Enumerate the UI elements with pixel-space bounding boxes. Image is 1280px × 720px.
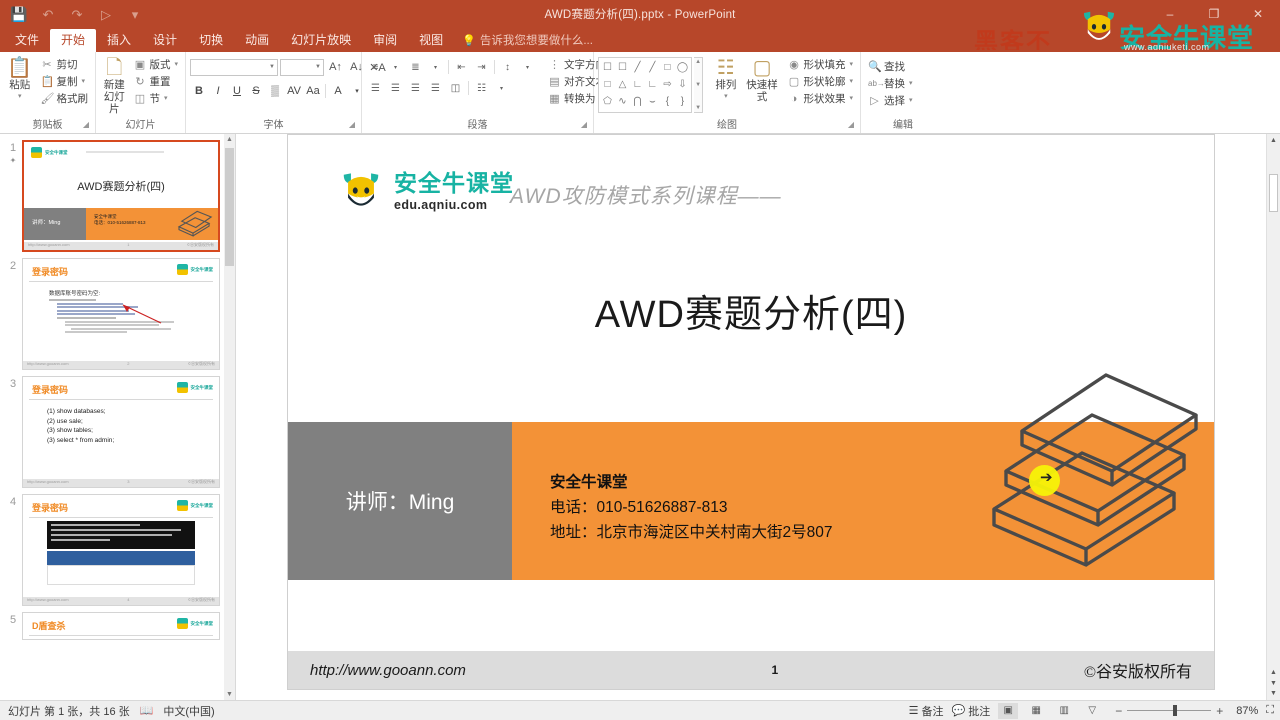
section-icon: ◫ <box>133 92 146 106</box>
bull-logo-icon <box>177 382 188 393</box>
slides-group-label: 幻灯片 <box>100 119 181 133</box>
mini-footer-right: ©谷安版权所有 <box>188 597 215 603</box>
spell-check-icon[interactable]: 📖 <box>140 704 154 717</box>
slide-footer[interactable]: http://www.gooann.com 1 ©谷安版权所有 <box>288 651 1214 689</box>
mini-footer-4: http://www.gooann.com 4 ©谷安版权所有 <box>27 597 215 603</box>
dialog-launcher-icon[interactable]: ◢ <box>848 118 854 132</box>
layout-label: 版式 <box>149 58 170 72</box>
chevron-down-icon[interactable]: ▾ <box>850 58 854 72</box>
drawing-label-text: 绘图 <box>717 120 737 131</box>
thumbnail-number-5: 5 <box>4 612 22 626</box>
zoom-knob[interactable] <box>1173 705 1177 716</box>
tab-file[interactable]: 文件 <box>4 29 50 52</box>
current-slide[interactable]: 安全牛课堂 edu.aqniu.com AWD攻防模式系列课程—— AWD赛题分… <box>287 134 1215 690</box>
select-label: 选择 <box>884 94 905 108</box>
shape-effects-label: 形状效果 <box>804 92 846 106</box>
thumbnail-slide-3[interactable]: 登录密码 安全牛课堂 (1) show databases; (2) use s… <box>22 376 220 488</box>
zoom-in-button[interactable]: + <box>1211 704 1228 718</box>
window-title: AWD赛题分析(四).pptx - PowerPoint <box>0 6 1280 22</box>
dialog-launcher-icon[interactable]: ◢ <box>581 118 587 132</box>
chevron-down-icon[interactable]: ▼ <box>269 64 275 70</box>
mini-contact-phone: 电话：010-51626887-813 <box>94 220 146 226</box>
slide-pane-scrollbar[interactable]: ▲ ▲ ▼ ▼ <box>1266 134 1280 700</box>
cut-button[interactable]: ✂ 剪切 <box>38 57 92 73</box>
thumbnail-slide-1[interactable]: 安全牛课堂 AWD赛题分析(四) 讲师：Ming 安全牛课堂 电话：010-51… <box>22 140 220 252</box>
shapes-scrollbar[interactable]: ▲ ▼ ▼ <box>694 57 703 113</box>
new-slide-label-2: 幻灯片 <box>100 91 128 115</box>
mini-browser-body <box>47 565 195 585</box>
font-group-label: 字体 ◢ <box>190 119 357 133</box>
restore-button[interactable]: ❐ <box>1192 0 1236 28</box>
slide-subtitle[interactable]: AWD攻防模式系列课程—— <box>510 180 782 210</box>
reset-icon: ↻ <box>133 75 146 89</box>
instructor-label: 讲师：Ming <box>346 486 455 516</box>
sql-line-1: (1) show databases; <box>47 407 114 417</box>
thumbnail-slide-4[interactable]: 登录密码 安全牛课堂 http://www.gooann.com 4 <box>22 494 220 606</box>
elbow-icon[interactable]: ∟ <box>630 76 645 93</box>
editing-group-label: 编辑 <box>865 119 941 133</box>
footer-page-number: 1 <box>772 663 779 677</box>
scissors-icon: ✂ <box>41 58 54 72</box>
textbox-alt-icon[interactable]: ☐ <box>615 59 630 76</box>
mini-browser-header <box>47 551 195 565</box>
slides-label-text: 幻灯片 <box>126 120 156 131</box>
zoom-slider[interactable]: − + <box>1110 704 1228 718</box>
mini-footer-left: http://www.gooann.com <box>27 361 69 367</box>
tab-slideshow[interactable]: 幻灯片放映 <box>280 29 362 52</box>
mini-sql-list: (1) show databases; (2) use sale; (3) sh… <box>47 407 114 445</box>
ribbon-group-paragraph: ≡ ▾ ≣ ▾ ⇤ ⇥ ↕ ▾ ☰ ☰ ☰ ☰ ◫ <box>362 52 594 133</box>
line-spacing-icon[interactable]: ↕ <box>498 58 517 76</box>
drawing-group-label: 绘图 ◢ <box>598 119 856 133</box>
mini-logo-text: 安全牛课堂 <box>191 267 214 272</box>
animation-star-icon: ✦ <box>4 156 22 165</box>
slide-count-label: 幻灯片 第 1 张，共 16 张 <box>8 703 130 719</box>
ribbon-group-slides: 🗋 新建 幻灯片 ▣ 版式 ▾ ↻ 重置 ◫ 节 ▾ <box>96 52 186 133</box>
mini-logo: 安全牛课堂 <box>177 500 214 511</box>
smartart-icon: ▦ <box>548 92 561 106</box>
new-slide-icon: 🗋 <box>106 57 122 79</box>
mini-title-2: 登录密码 <box>32 265 68 278</box>
sql-line-3: (3) show tables; <box>47 426 114 436</box>
close-button[interactable]: ✕ <box>1236 0 1280 28</box>
mini-terminal <box>47 521 195 549</box>
slide-editing-pane[interactable]: 安全牛课堂 edu.aqniu.com AWD攻防模式系列课程—— AWD赛题分… <box>236 134 1266 700</box>
format-painter-label: 格式刷 <box>57 92 89 106</box>
tab-review[interactable]: 审阅 <box>362 29 408 52</box>
mini-divider <box>29 399 213 400</box>
thumbnail-row-3[interactable]: 3 登录密码 安全牛课堂 (1) show databases; (2) use… <box>0 370 235 488</box>
bull-logo-icon <box>31 147 42 158</box>
chevron-down-icon[interactable]: ▾ <box>386 58 405 76</box>
rectangle-icon[interactable]: □ <box>660 59 675 76</box>
scrollbar-thumb[interactable] <box>225 148 234 266</box>
notes-button[interactable]: ☰ 备注 <box>909 703 944 719</box>
format-painter-icon: 🖌 <box>41 92 54 106</box>
books-illustration-icon[interactable] <box>978 367 1208 579</box>
shape-outline-button[interactable]: ▢ 形状轮廓 ▾ <box>785 74 857 90</box>
columns-icon[interactable]: ◫ <box>446 79 465 97</box>
fit-to-window-button[interactable]: ⛶ <box>1266 704 1274 717</box>
tab-transitions[interactable]: 切换 <box>188 29 234 52</box>
numbering-icon[interactable]: ≣ <box>406 58 425 76</box>
notes-label: 备注 <box>922 703 944 719</box>
work-area: 1 ✦ 安全牛课堂 AWD赛题分析(四) 讲师：Ming 安全牛课堂 电话：01… <box>0 134 1280 700</box>
title-bar: 💾 ↶ ↷ ▷ ▾ AWD赛题分析(四).pptx - PowerPoint –… <box>0 0 1280 28</box>
tab-animations[interactable]: 动画 <box>234 29 280 52</box>
italic-button[interactable]: I <box>209 82 227 100</box>
thumbnail-row-2[interactable]: 2 登录密码 安全牛课堂 数据库账号密码为空: <box>0 252 235 370</box>
slide-sorter-button[interactable]: ▦ <box>1026 703 1046 719</box>
ribbon-group-drawing: ☐ ☐ ╱ ╱ □ ◯ □ △ ∟ ∟ ⇨ ⇩ ⬠ ∿ ⋂ ⌣ { } ▲ <box>594 52 861 133</box>
rect2-icon[interactable]: □ <box>600 76 615 93</box>
align-left-icon[interactable]: ☰ <box>366 79 385 97</box>
shapes-more-icon[interactable]: ▼ <box>695 105 701 111</box>
chevron-down-icon[interactable]: ▾ <box>426 58 445 76</box>
oval-icon[interactable]: ◯ <box>675 59 690 76</box>
select-button[interactable]: ▷ 选择 ▾ <box>865 93 916 109</box>
divider <box>494 60 495 74</box>
mini-footer-center: 4 <box>127 597 129 603</box>
copy-button[interactable]: 📋 复制 ▾ <box>38 74 92 90</box>
tab-insert[interactable]: 插入 <box>96 29 142 52</box>
scroll-up-icon[interactable]: ▲ <box>1267 137 1280 144</box>
layout-button[interactable]: ▣ 版式 ▾ <box>130 57 181 73</box>
comments-label: 批注 <box>968 703 990 719</box>
triangle-icon[interactable]: △ <box>615 76 630 93</box>
shape-outline-icon: ▢ <box>788 75 801 89</box>
thumbnail-slide-5[interactable]: D盾查杀 安全牛课堂 <box>22 612 220 640</box>
cut-label: 剪切 <box>57 58 78 72</box>
language-label[interactable]: 中文(中国) <box>163 703 214 719</box>
logo-text: 安全牛课堂 edu.aqniu.com <box>394 172 514 212</box>
bull-logo-icon <box>338 169 384 215</box>
minimize-button[interactable]: – <box>1148 0 1192 28</box>
cursor-icon: ➔ <box>1040 470 1053 485</box>
reading-view-button[interactable]: ▥ <box>1054 703 1074 719</box>
curve-icon[interactable]: ⋂ <box>630 93 645 110</box>
replace-label: 替换 <box>884 77 905 91</box>
thumbnail-row-4[interactable]: 4 登录密码 安全牛课堂 http://www.gooan <box>0 488 235 606</box>
search-icon: 🔍 <box>868 60 881 74</box>
textbox-icon[interactable]: ☐ <box>600 59 615 76</box>
mini-logo: 安全牛课堂 <box>177 382 214 393</box>
dialog-launcher-icon[interactable]: ◢ <box>83 118 89 132</box>
align-center-icon[interactable]: ☰ <box>386 79 405 97</box>
bull-logo-icon <box>177 618 188 629</box>
bull-logo-icon <box>177 500 188 511</box>
mini-footer-right: ©谷安版权所有 <box>187 242 214 248</box>
copy-label: 复制 <box>57 75 78 89</box>
thumbnail-number-3: 3 <box>4 376 22 390</box>
mini-subtitle-bar <box>86 151 164 153</box>
mini-footer-right: ©谷安版权所有 <box>188 361 215 367</box>
notes-icon: ☰ <box>909 704 919 717</box>
status-bar: 幻灯片 第 1 张，共 16 张 📖 中文(中国) ☰ 备注 💬 批注 ▣ ▦ … <box>0 700 1280 720</box>
quick-styles-button[interactable]: ▢ 快速样式 <box>745 55 780 103</box>
tell-me-box[interactable]: 💡 告诉我您想要做什么... <box>454 32 593 52</box>
ribbon-group-editing: 🔍 查找 ab→ 替换 ▾ ▷ 选择 ▾ 编辑 <box>861 52 945 133</box>
ribbon: 📋 粘贴 ▾ ✂ 剪切 📋 复制 ▾ 🖌 格式刷 <box>0 52 1280 134</box>
normal-view-button[interactable]: ▣ <box>998 703 1018 719</box>
mini-logo-text: 安全牛课堂 <box>191 503 214 508</box>
line-arrow-icon[interactable]: ╱ <box>645 59 660 76</box>
zoom-level-label[interactable]: 87% <box>1236 705 1258 717</box>
contact-address: 地址：北京市海淀区中关村南大街2号807 <box>550 520 832 545</box>
copy-icon: 📋 <box>41 75 54 89</box>
zoom-out-button[interactable]: − <box>1110 704 1127 718</box>
clipboard-icon: 📋 <box>7 57 32 79</box>
ribbon-group-clipboard: 📋 粘贴 ▾ ✂ 剪切 📋 复制 ▾ 🖌 格式刷 <box>0 52 96 133</box>
mini-footer-center: 3 <box>127 479 129 485</box>
shapes-gallery[interactable]: ☐ ☐ ╱ ╱ □ ◯ □ △ ∟ ∟ ⇨ ⇩ ⬠ ∿ ⋂ ⌣ { } <box>598 57 692 113</box>
contact-info: 安全牛课堂 电话：010-51626887-813 地址：北京市海淀区中关村南大… <box>550 470 832 545</box>
mini-footer-2: http://www.gooann.com 2 ©谷安版权所有 <box>27 361 215 367</box>
section-label: 节 <box>149 92 160 106</box>
decrease-indent-icon[interactable]: ⇤ <box>452 58 471 76</box>
section-button[interactable]: ◫ 节 ▾ <box>130 91 181 107</box>
arc-icon[interactable]: ⌣ <box>645 93 660 110</box>
divider <box>468 81 469 95</box>
scroll-up-icon[interactable]: ▲ <box>224 136 235 143</box>
chevron-down-icon[interactable]: ▾ <box>174 58 178 72</box>
elbow2-icon[interactable]: ∟ <box>645 76 660 93</box>
brace-left-icon[interactable]: { <box>660 93 675 110</box>
sql-line-4: (3) select * from admin; <box>47 436 114 446</box>
next-slide-icon[interactable]: ▼ <box>1267 680 1280 687</box>
logo-cn-text: 安全牛课堂 <box>394 172 514 195</box>
chevron-down-icon[interactable]: ▾ <box>18 91 22 103</box>
mini-logo-text: 安全牛课堂 <box>191 385 214 390</box>
arrange-label: 排列 <box>715 79 736 91</box>
divider <box>448 60 449 74</box>
mini-title-1: AWD赛题分析(四) <box>24 178 218 194</box>
editing-label-text: 编辑 <box>893 120 913 131</box>
justify-icon[interactable]: ☰ <box>426 79 445 97</box>
mini-logo: 安全牛课堂 <box>177 264 214 275</box>
mini-footer-left: http://www.gooann.com <box>27 597 69 603</box>
mini-footer-left: http://www.gooann.com <box>27 479 69 485</box>
replace-icon: ab→ <box>868 77 881 91</box>
mini-divider <box>29 281 213 282</box>
replace-button[interactable]: ab→ 替换 ▾ <box>865 76 916 92</box>
mini-footer-1: http://www.gooann.com 1 ©谷安版权所有 <box>28 242 214 248</box>
text-columns-icon[interactable]: ☷ <box>472 79 491 97</box>
mini-title-4: 登录密码 <box>32 501 68 514</box>
chevron-down-icon[interactable]: ▾ <box>724 91 728 103</box>
mini-title-3: 登录密码 <box>32 383 68 396</box>
ribbon-group-font: ▼ ▼ A↑ A↓ ✕A B I U S ▒ AV Aa A ▾ <box>186 52 362 133</box>
bullets-icon[interactable]: ≡ <box>366 58 385 76</box>
arrow-right-icon[interactable]: ⇨ <box>660 76 675 93</box>
slide-title[interactable]: AWD赛题分析(四) <box>288 283 1214 338</box>
freeform-icon[interactable]: ∿ <box>615 93 630 110</box>
brace-right-icon[interactable]: } <box>675 93 690 110</box>
previous-slide-icon[interactable]: ▲ <box>1267 669 1280 676</box>
increase-font-size-button[interactable]: A↑ <box>326 58 345 76</box>
thumb-num-text: 1 <box>10 142 16 154</box>
thumbnail-row-5[interactable]: 5 D盾查杀 安全牛课堂 <box>0 606 235 640</box>
font-name-input[interactable]: ▼ <box>190 59 278 76</box>
lightbulb-icon: 💡 <box>462 34 476 47</box>
logo-en-text: edu.aqniu.com <box>394 199 514 212</box>
scroll-up-icon[interactable]: ▲ <box>695 59 701 65</box>
slide-logo: 安全牛课堂 edu.aqniu.com <box>338 169 514 215</box>
font-label-text: 字体 <box>264 120 284 131</box>
mini-divider <box>29 517 213 518</box>
bold-button[interactable]: B <box>190 82 208 100</box>
mini-divider <box>29 635 213 636</box>
mini-footer-left: http://www.gooann.com <box>28 242 70 248</box>
sql-line-2: (2) use sale; <box>47 417 114 427</box>
bull-logo-icon <box>177 264 188 275</box>
change-case-icon[interactable]: Aa <box>304 82 322 100</box>
thumbnail-row-1[interactable]: 1 ✦ 安全牛课堂 AWD赛题分析(四) 讲师：Ming 安全牛课堂 电话：01… <box>0 134 235 252</box>
shape-fill-icon: ◉ <box>788 58 801 72</box>
paste-button[interactable]: 📋 粘贴 ▾ <box>4 55 36 103</box>
clipboard-label-text: 剪贴板 <box>33 120 63 131</box>
text-direction-icon: ⋮ <box>548 58 561 72</box>
shape-fill-button[interactable]: ◉ 形状填充 ▾ <box>785 57 857 73</box>
mini-footer-center: 1 <box>127 242 129 248</box>
mini-footer-right: ©谷安版权所有 <box>188 479 215 485</box>
mini-logo-text: 安全牛课堂 <box>45 150 68 155</box>
shape-effects-icon: ◑ <box>788 92 801 106</box>
paragraph-group-label: 段落 ◢ <box>366 119 589 133</box>
dialog-launcher-icon[interactable]: ◢ <box>349 118 355 132</box>
paste-label: 粘贴 <box>9 79 30 91</box>
chevron-down-icon[interactable]: ▾ <box>492 79 511 97</box>
clipboard-group-label: 剪贴板 ◢ <box>4 119 91 133</box>
character-spacing-icon[interactable]: AV <box>285 82 303 100</box>
thumbnail-number-1: 1 ✦ <box>4 140 22 165</box>
mini-footer-center: 2 <box>127 361 129 367</box>
chevron-down-icon[interactable]: ▾ <box>164 92 168 106</box>
align-right-icon[interactable]: ☰ <box>406 79 425 97</box>
shape-outline-label: 形状轮廓 <box>804 75 846 89</box>
thumbnails-scrollbar[interactable]: ▲ ▼ <box>224 134 235 700</box>
tab-home[interactable]: 开始 <box>50 29 96 52</box>
quick-styles-label: 快速样式 <box>745 79 780 103</box>
new-slide-label-1: 新建 <box>104 79 125 91</box>
select-icon: ▷ <box>868 94 881 108</box>
arrange-icon: ☷ <box>717 57 735 79</box>
tell-me-label: 告诉我您想要做什么... <box>480 32 593 48</box>
footer-copyright: ©谷安版权所有 <box>1084 658 1192 682</box>
zoom-track[interactable] <box>1127 710 1211 711</box>
thumbnail-number-4: 4 <box>4 494 22 508</box>
chevron-down-icon[interactable]: ▼ <box>315 64 321 70</box>
line-icon[interactable]: ╱ <box>630 59 645 76</box>
new-slide-button[interactable]: 🗋 新建 幻灯片 <box>100 55 128 115</box>
contact-phone: 电话：010-51626887-813 <box>550 495 832 520</box>
paragraph-label-text: 段落 <box>468 120 488 131</box>
comments-button[interactable]: 💬 批注 <box>952 703 991 719</box>
red-arrow-icon <box>119 303 163 325</box>
mini-logo-text: 安全牛课堂 <box>191 621 214 626</box>
scroll-down-icon[interactable]: ▼ <box>1267 690 1280 697</box>
mini-body-2: 数据库账号密码为空: <box>49 289 100 297</box>
font-size-input[interactable]: ▼ <box>280 59 324 76</box>
status-left: 幻灯片 第 1 张，共 16 张 📖 中文(中国) <box>0 703 215 719</box>
mini-instructor: 讲师：Ming <box>32 218 60 226</box>
tab-view[interactable]: 视图 <box>408 29 454 52</box>
shape-effects-button[interactable]: ◑ 形状效果 ▾ <box>785 91 857 107</box>
underline-button[interactable]: U <box>228 82 246 100</box>
arrange-button[interactable]: ☷ 排列 ▾ <box>709 55 742 103</box>
instructor-block[interactable]: 讲师：Ming <box>288 422 512 580</box>
ribbon-tabs[interactable]: 文件 开始 插入 设计 切换 动画 幻灯片放映 审阅 视图 💡 告诉我您想要做什… <box>0 28 1280 52</box>
slide-thumbnails-pane[interactable]: 1 ✦ 安全牛课堂 AWD赛题分析(四) 讲师：Ming 安全牛课堂 电话：01… <box>0 134 236 700</box>
reset-button[interactable]: ↻ 重置 <box>130 74 181 90</box>
quick-styles-icon: ▢ <box>753 57 772 79</box>
align-text-icon: ▤ <box>548 75 561 89</box>
tab-design[interactable]: 设计 <box>142 29 188 52</box>
mini-logo: 安全牛课堂 <box>177 618 214 629</box>
chevron-down-icon[interactable]: ▾ <box>850 75 854 89</box>
thumbnail-number-2: 2 <box>4 258 22 272</box>
footer-url: http://www.gooann.com <box>310 662 466 679</box>
window-controls[interactable]: – ❐ ✕ <box>1148 0 1280 28</box>
chevron-down-icon[interactable]: ▾ <box>909 77 913 91</box>
pentagon-icon[interactable]: ⬠ <box>600 93 615 110</box>
divider <box>325 84 326 98</box>
books-illustration-icon <box>172 196 214 238</box>
text-shadow-icon[interactable]: ▒ <box>266 82 284 100</box>
find-button[interactable]: 🔍 查找 <box>865 59 916 75</box>
mini-title-5: D盾查杀 <box>32 619 66 632</box>
chevron-down-icon[interactable]: ▾ <box>518 58 537 76</box>
increase-indent-icon[interactable]: ⇥ <box>472 58 491 76</box>
shape-fill-label: 形状填充 <box>804 58 846 72</box>
comment-icon: 💬 <box>952 704 966 717</box>
scroll-down-icon[interactable]: ▼ <box>224 691 235 698</box>
layout-icon: ▣ <box>133 58 146 72</box>
thumbnail-slide-2[interactable]: 登录密码 安全牛课堂 数据库账号密码为空: <box>22 258 220 370</box>
slideshow-button[interactable]: ▽ <box>1082 703 1102 719</box>
scrollbar-thumb[interactable] <box>1269 174 1278 212</box>
chevron-down-icon[interactable]: ▾ <box>850 92 854 106</box>
mini-footer-3: http://www.gooann.com 3 ©谷安版权所有 <box>27 479 215 485</box>
scroll-down-icon[interactable]: ▼ <box>695 82 701 88</box>
format-painter-button[interactable]: 🖌 格式刷 <box>38 91 92 107</box>
mini-logo: 安全牛课堂 <box>31 147 68 158</box>
strikethrough-button[interactable]: S <box>247 82 265 100</box>
chevron-down-icon[interactable]: ▾ <box>909 94 913 108</box>
arrow-down-icon[interactable]: ⇩ <box>675 76 690 93</box>
font-color-icon[interactable]: A <box>329 82 347 100</box>
find-label: 查找 <box>884 60 905 74</box>
status-right: ☰ 备注 💬 批注 ▣ ▦ ▥ ▽ − + 87% ⛶ <box>909 703 1280 719</box>
mini-contact: 安全牛课堂 电话：010-51626887-813 <box>94 214 146 226</box>
chevron-down-icon[interactable]: ▾ <box>82 75 86 89</box>
reset-label: 重置 <box>149 75 170 89</box>
contact-name: 安全牛课堂 <box>550 470 832 495</box>
